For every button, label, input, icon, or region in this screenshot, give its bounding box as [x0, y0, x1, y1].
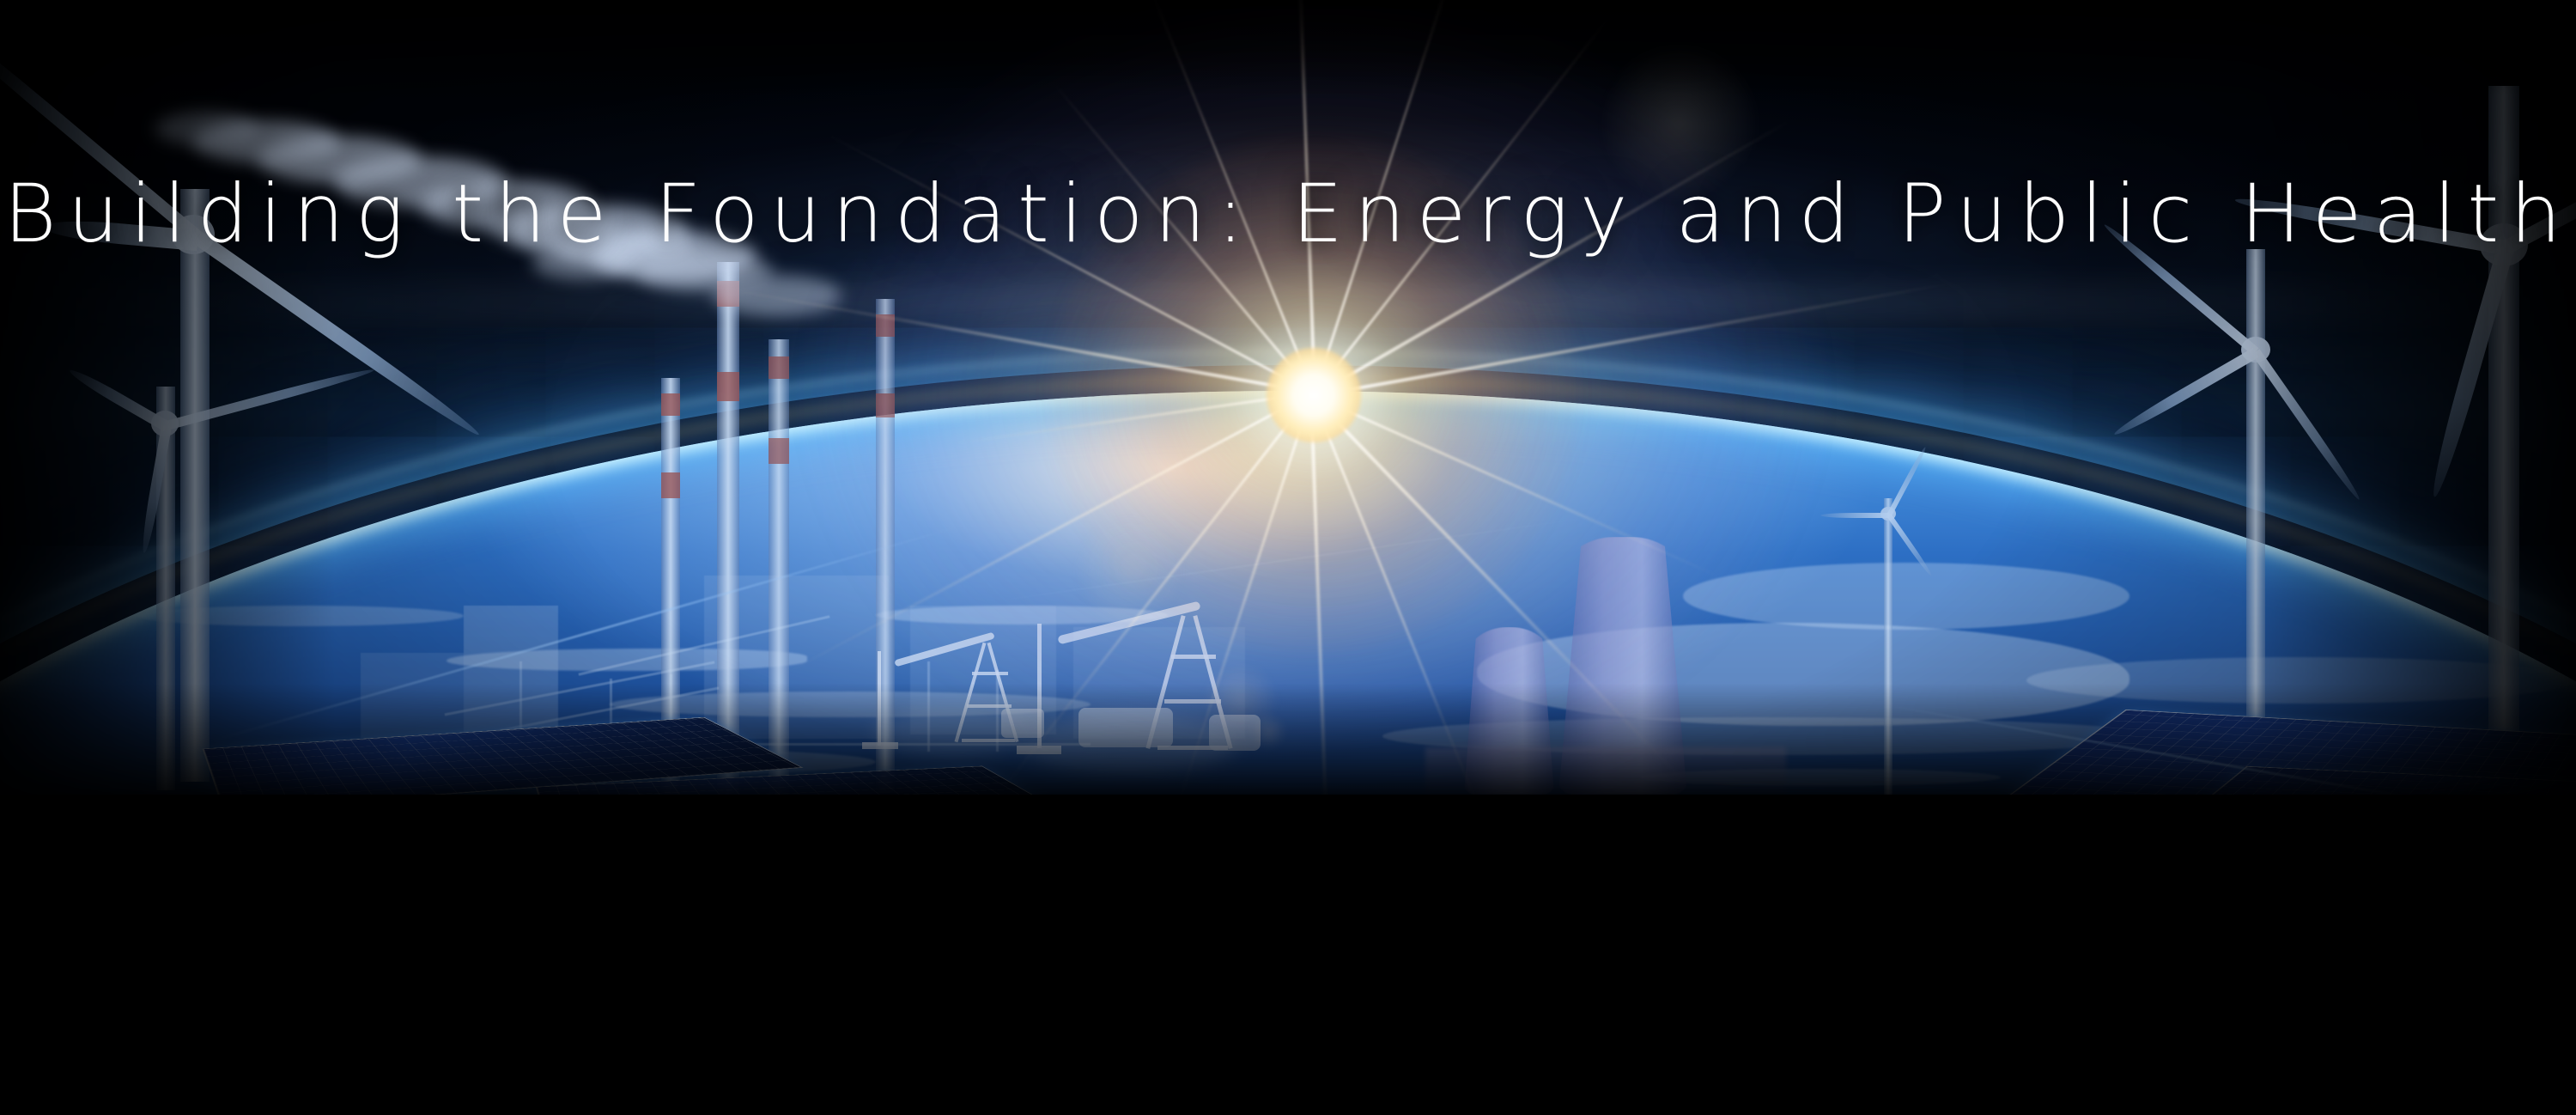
- banner-page: Building the Foundation: Energy and Publ…: [0, 0, 2576, 1115]
- wind-turbine: [1829, 481, 1949, 795]
- sun-burst: [1185, 266, 1443, 524]
- lens-flare: [1249, 713, 1287, 751]
- hero-banner-image: Building the Foundation: Energy and Publ…: [0, 0, 2576, 795]
- wind-turbine: [86, 361, 309, 790]
- footer-bar: Georgia Tech ® Strategic Ene: [0, 795, 2576, 1115]
- wind-turbine: [2138, 223, 2396, 795]
- lens-flare: [1073, 515, 1185, 627]
- page-title: Building the Foundation: Energy and Publ…: [0, 174, 2576, 255]
